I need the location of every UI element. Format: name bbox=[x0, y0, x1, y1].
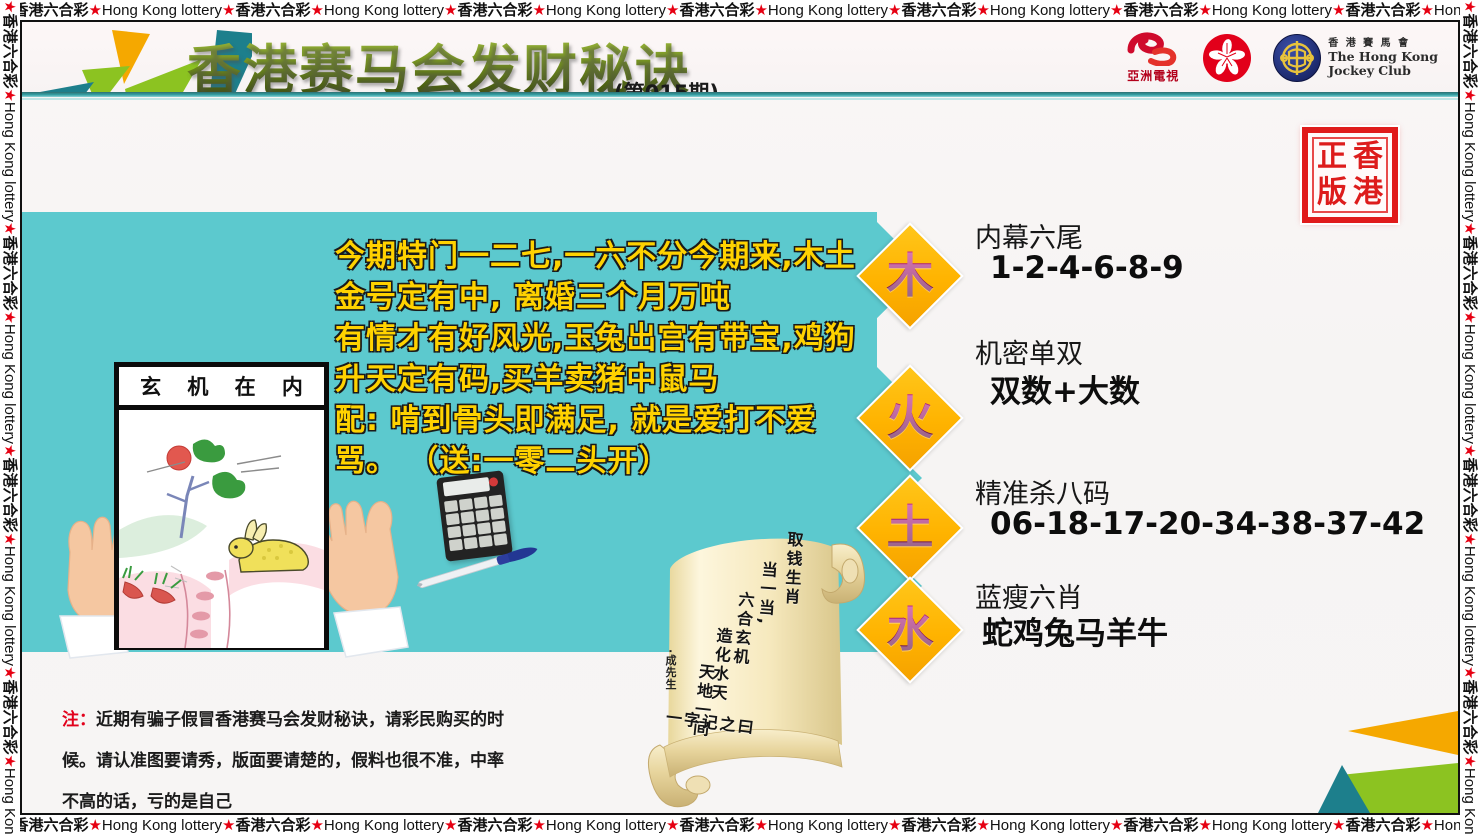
hkjc-logo: 香 港 賽 馬 會 The Hong Kong Jockey Club bbox=[1273, 34, 1438, 82]
border-star-icon: ★ bbox=[532, 1, 545, 19]
poem-line-5: 配: 啃到骨头即满足, 就是爱打不爱 bbox=[335, 400, 880, 441]
poem-line-3: 有情才有好风光,玉兔出宫有带宝,鸡狗 bbox=[335, 318, 880, 359]
border-text-cn: 香港六合彩 bbox=[1123, 816, 1198, 834]
picture-title-char-3: 在 bbox=[235, 371, 256, 401]
border-star-icon: ★ bbox=[222, 816, 235, 834]
border-text-en: Hong Kong lottery bbox=[1461, 768, 1478, 835]
element-char-wood: 木 bbox=[874, 240, 946, 312]
poem-line-2: 金号定有中, 离婚三个月万吨 bbox=[335, 277, 880, 318]
picture-title: 玄 机 在 内 bbox=[119, 367, 324, 410]
border-text-en: Hong Kong lottery bbox=[1212, 817, 1332, 834]
border-star-icon: ★ bbox=[88, 816, 101, 834]
stamp-char-3: 版 bbox=[1314, 175, 1350, 211]
hkjc-label-en1: The Hong Kong bbox=[1328, 50, 1438, 64]
border-star-icon: ★ bbox=[1, 222, 19, 235]
border-star-icon: ★ bbox=[1110, 816, 1123, 834]
border-star-icon: ★ bbox=[1332, 816, 1345, 834]
poem-line-1: 今期特门一二七,一六不分今期来,木土 bbox=[335, 236, 880, 277]
border-star-icon: ★ bbox=[1332, 1, 1345, 19]
border-text-en: Hong Kong lottery bbox=[1, 546, 18, 666]
border-text-cn: 香港六合彩 bbox=[457, 816, 532, 834]
picture-title-char-4: 内 bbox=[282, 371, 303, 401]
border-star-icon: ★ bbox=[1, 0, 19, 13]
border-star-icon: ★ bbox=[1198, 816, 1211, 834]
border-star-icon: ★ bbox=[1, 754, 19, 767]
border-text-en: Hong Kong lottery bbox=[1, 102, 18, 222]
rabbit-scene-icon bbox=[119, 410, 324, 648]
border-star-icon: ★ bbox=[88, 1, 101, 19]
border-text-en: Hong Kong lottery bbox=[324, 817, 444, 834]
stamp-char-4: 港 bbox=[1350, 175, 1386, 211]
border-text-cn: 香港六合彩 bbox=[679, 816, 754, 834]
corner-triangles-bottom-right bbox=[1308, 683, 1458, 813]
border-star-icon: ★ bbox=[1, 310, 19, 323]
border-text-cn: 香港六合彩 bbox=[901, 1, 976, 19]
border-star-icon: ★ bbox=[1461, 222, 1479, 235]
border-star-icon: ★ bbox=[1420, 816, 1433, 834]
border-star-icon: ★ bbox=[1461, 88, 1479, 101]
border-text-cn: 香港六合彩 bbox=[1123, 1, 1198, 19]
border-star-icon: ★ bbox=[1198, 1, 1211, 19]
poem-block: 今期特门一二七,一六不分今期来,木土 金号定有中, 离婚三个月万吨 有情才有好风… bbox=[335, 236, 880, 482]
scroll-column-1: 取钱生肖 bbox=[778, 530, 806, 607]
atv-icon bbox=[1125, 32, 1181, 66]
border-text-en: Hong Kong lottery bbox=[1461, 102, 1478, 222]
border-star-icon: ★ bbox=[976, 816, 989, 834]
marquee-border-left: ★香港六合彩★Hong Kong lottery★香港六合彩★Hong Kong… bbox=[0, 0, 20, 835]
element-char-earth: 土 bbox=[874, 492, 946, 564]
stamp-char-2: 香 bbox=[1350, 139, 1386, 175]
picture-title-char-1: 玄 bbox=[140, 371, 161, 401]
prediction-value-1: 双数+大数 bbox=[990, 366, 1140, 411]
scroll-signature: ·成先生 bbox=[662, 649, 678, 690]
border-text-en: Hong Kong lottery bbox=[990, 2, 1110, 19]
border-star-icon: ★ bbox=[1, 88, 19, 101]
stamp-char-1: 正 bbox=[1314, 139, 1350, 175]
border-text-cn: 香港六合彩 bbox=[1345, 1, 1420, 19]
disclaimer-note: 注：近期有骗子假冒香港赛马会发财秘诀，请彩民购买的时 候。请认准图要请秀，版面要… bbox=[62, 700, 682, 815]
border-star-icon: ★ bbox=[976, 1, 989, 19]
border-star-icon: ★ bbox=[310, 1, 323, 19]
border-star-icon: ★ bbox=[1461, 532, 1479, 545]
poster-body: 香港赛马会发财秘诀 (第015期) 亞洲電視 bbox=[20, 20, 1460, 815]
border-star-icon: ★ bbox=[666, 1, 679, 19]
element-char-water: 水 bbox=[874, 594, 946, 666]
border-text-en: Hong Kong lottery bbox=[768, 817, 888, 834]
picture-title-char-2: 机 bbox=[187, 371, 208, 401]
atv-logo: 亞洲電視 bbox=[1125, 32, 1181, 84]
border-star-icon: ★ bbox=[1461, 754, 1479, 767]
border-star-icon: ★ bbox=[1461, 666, 1479, 679]
hkjc-label-cn: 香 港 賽 馬 會 bbox=[1328, 38, 1438, 49]
calculator-icon bbox=[436, 470, 513, 562]
border-text-cn: 香港六合彩 bbox=[1461, 679, 1479, 754]
border-text-cn: 香港六合彩 bbox=[1461, 13, 1479, 88]
prediction-value-3: 蛇鸡兔马羊牛 bbox=[982, 608, 1168, 653]
border-star-icon: ★ bbox=[1, 532, 19, 545]
poem-line-6: 骂。 （送:一零二头开） bbox=[335, 441, 880, 482]
mystery-picture-card[interactable]: 玄 机 在 内 bbox=[114, 362, 329, 650]
header-divider-secondary bbox=[22, 98, 1458, 100]
poem-line-4: 升天定有码,买羊卖猪中鼠马 bbox=[335, 359, 880, 400]
hkjc-icon bbox=[1273, 34, 1321, 82]
hkjc-label-en2: Jockey Club bbox=[1328, 64, 1438, 78]
marquee-border-bottom: ★香港六合彩★Hong Kong lottery★香港六合彩★Hong Kong… bbox=[0, 815, 1480, 835]
border-text-cn: 香港六合彩 bbox=[13, 816, 88, 834]
border-star-icon: ★ bbox=[1, 666, 19, 679]
border-text-cn: 香港六合彩 bbox=[1, 457, 19, 532]
logo-group: 亞洲電視 bbox=[1125, 32, 1438, 84]
issue-number: (第015期) bbox=[614, 77, 719, 92]
border-star-icon: ★ bbox=[1110, 1, 1123, 19]
border-text-en: Hong Kong lottery bbox=[1461, 546, 1478, 666]
border-text-cn: 香港六合彩 bbox=[1461, 457, 1479, 532]
border-text-en: Hong Kong lottery bbox=[990, 817, 1110, 834]
note-line-1: 近期有骗子假冒香港赛马会发财秘诀，请彩民购买的时 bbox=[96, 710, 504, 730]
border-star-icon: ★ bbox=[1461, 0, 1479, 13]
picture-artwork bbox=[119, 410, 324, 648]
border-star-icon: ★ bbox=[532, 816, 545, 834]
border-text-cn: 香港六合彩 bbox=[679, 1, 754, 19]
marquee-border-top: ★香港六合彩★Hong Kong lottery★香港六合彩★Hong Kong… bbox=[0, 0, 1480, 20]
border-star-icon: ★ bbox=[754, 816, 767, 834]
border-star-icon: ★ bbox=[754, 1, 767, 19]
border-text-cn: 香港六合彩 bbox=[1, 235, 19, 310]
border-text-cn: 香港六合彩 bbox=[235, 816, 310, 834]
authenticity-stamp: 正 香 版 港 bbox=[1302, 127, 1398, 223]
border-text-en: Hong Kong lottery bbox=[1, 324, 18, 444]
border-text-en: Hong Kong lottery bbox=[324, 2, 444, 19]
marquee-border-right: ★香港六合彩★Hong Kong lottery★香港六合彩★Hong Kong… bbox=[1460, 0, 1480, 835]
border-star-icon: ★ bbox=[888, 1, 901, 19]
border-text-cn: 香港六合彩 bbox=[13, 1, 88, 19]
poster-header: 香港赛马会发财秘诀 (第015期) 亞洲電視 bbox=[22, 22, 1458, 92]
prediction-value-0: 1-2-4-6-8-9 bbox=[990, 250, 1184, 286]
border-text-en: Hong Kong lottery bbox=[1461, 324, 1478, 444]
border-star-icon: ★ bbox=[888, 816, 901, 834]
border-text-en: Hong Kong lottery bbox=[102, 817, 222, 834]
poster-stage: ★香港六合彩★Hong Kong lottery★香港六合彩★Hong Kong… bbox=[0, 0, 1480, 835]
border-text-en: Hong Kong lottery bbox=[768, 2, 888, 19]
border-star-icon: ★ bbox=[1420, 1, 1433, 19]
atv-label: 亞洲電視 bbox=[1127, 67, 1179, 84]
border-text-en: Hong Kong lottery bbox=[1, 768, 18, 835]
border-text-en: Hong Kong lottery bbox=[102, 2, 222, 19]
border-text-cn: 香港六合彩 bbox=[901, 816, 976, 834]
bauhinia-icon bbox=[1203, 34, 1251, 82]
border-star-icon: ★ bbox=[444, 1, 457, 19]
border-text-cn: 香港六合彩 bbox=[1, 679, 19, 754]
border-text-cn: 香港六合彩 bbox=[235, 1, 310, 19]
border-text-cn: 香港六合彩 bbox=[1461, 235, 1479, 310]
border-text-cn: 香港六合彩 bbox=[1, 13, 19, 88]
note-line-3: 不高的话，亏的是自己 bbox=[62, 782, 682, 815]
border-text-en: Hong Kong lottery bbox=[1212, 2, 1332, 19]
border-star-icon: ★ bbox=[444, 816, 457, 834]
border-star-icon: ★ bbox=[1, 444, 19, 457]
border-star-icon: ★ bbox=[666, 816, 679, 834]
note-line-2: 候。请认准图要请秀，版面要请楚的，假料也很不准，中率 bbox=[62, 741, 682, 782]
border-star-icon: ★ bbox=[222, 1, 235, 19]
border-text-en: Hong Kong lottery bbox=[546, 2, 666, 19]
header-divider bbox=[22, 92, 1458, 97]
border-star-icon: ★ bbox=[310, 816, 323, 834]
hk-bauhinia-emblem bbox=[1203, 34, 1251, 82]
border-text-cn: 香港六合彩 bbox=[1345, 816, 1420, 834]
border-text-cn: 香港六合彩 bbox=[457, 1, 532, 19]
note-tag: 注： bbox=[62, 710, 96, 730]
border-star-icon: ★ bbox=[1461, 444, 1479, 457]
element-char-fire: 火 bbox=[874, 382, 946, 454]
border-text-en: Hong Kong lottery bbox=[546, 817, 666, 834]
border-star-icon: ★ bbox=[1461, 310, 1479, 323]
prediction-value-2: 06-18-17-20-34-38-37-42 bbox=[990, 506, 1425, 542]
